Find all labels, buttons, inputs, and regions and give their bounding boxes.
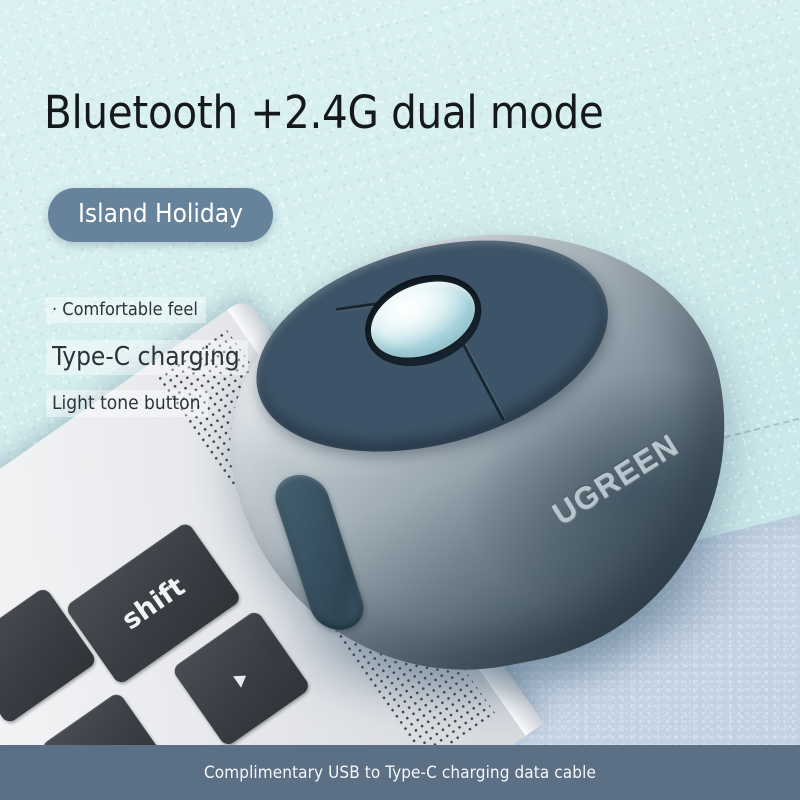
feature-type-c-charging: Type-C charging xyxy=(46,340,248,375)
feature-comfortable-feel: · Comfortable feel xyxy=(46,297,206,323)
island-holiday-badge: Island Holiday xyxy=(48,188,273,242)
footer-caption-text: Complimentary USB to Type-C charging dat… xyxy=(204,763,596,783)
wireless-mouse: UGREEN xyxy=(183,183,783,744)
shift-key-label: shift xyxy=(116,571,190,636)
feature-light-tone-button: Light tone button xyxy=(46,390,208,417)
arrow-right-icon xyxy=(233,670,250,688)
headline: Bluetooth +2.4G dual mode xyxy=(44,86,604,139)
product-marketing-image: shift UGREEN Bluetooth +2.4G dual mode I… xyxy=(0,0,800,800)
mat-stitch-right xyxy=(747,0,800,482)
footer-caption-bar: Complimentary USB to Type-C charging dat… xyxy=(0,745,800,800)
